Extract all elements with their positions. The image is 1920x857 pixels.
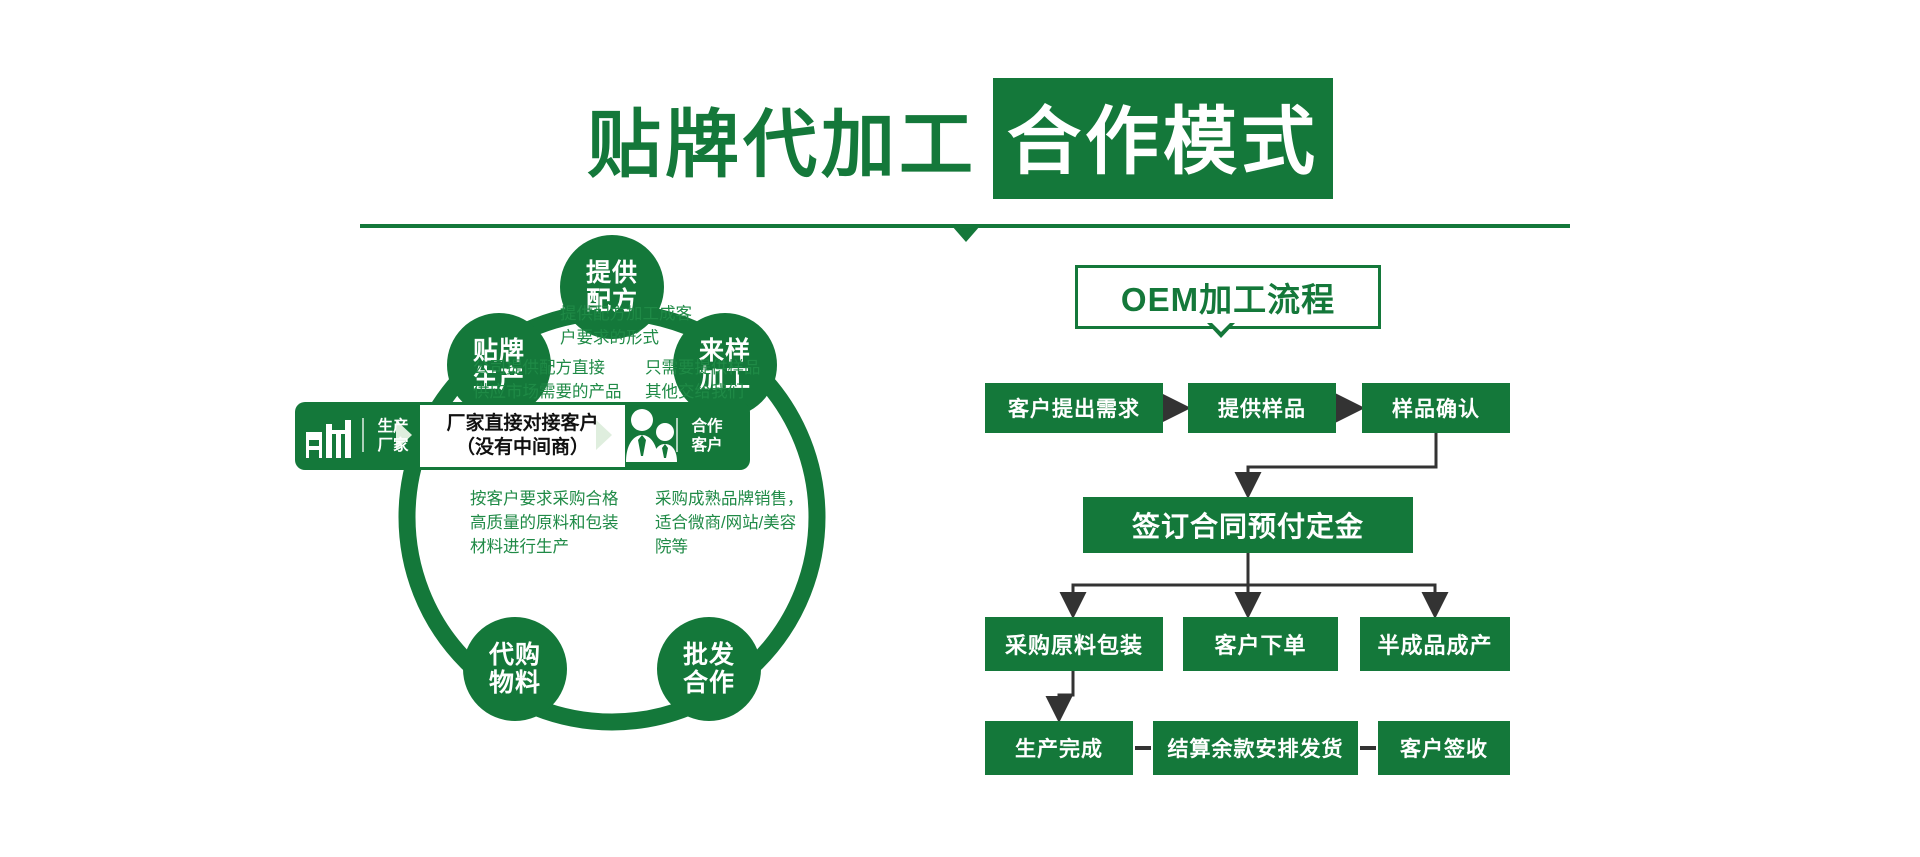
factory-icon bbox=[302, 406, 362, 466]
flowchart-heading: OEM加工流程 bbox=[1075, 265, 1381, 329]
oem-cooperation-infographic: 贴牌代加工合作模式 提供 配方 贴牌 生产 来样 加工 bbox=[0, 0, 1920, 857]
cycle-desc-bottom-left: 按客户要求采购合格 高质量的原料和包装 材料进行生产 bbox=[470, 488, 670, 560]
flow-box-sample-confirm[interactable]: 样品确认 bbox=[1362, 383, 1510, 433]
page-title-highlight: 合作模式 bbox=[993, 78, 1333, 199]
cycle-desc-left: 公司提供配方直接 供应市场需要的产品 bbox=[473, 357, 663, 405]
customers-icon bbox=[620, 404, 682, 466]
flow-box-customer-request[interactable]: 客户提出需求 bbox=[985, 383, 1163, 433]
cycle-node-material-purchase[interactable]: 代购 物料 bbox=[463, 617, 567, 721]
page-title: 贴牌代加工合作模式 bbox=[0, 78, 1920, 199]
direct-connection-line1: 厂家直接对接客户 bbox=[446, 412, 598, 436]
cycle-desc-right: 只需要提供样品 其他交给我们 bbox=[645, 357, 825, 405]
flow-box-semi-finished[interactable]: 半成品成产 bbox=[1360, 617, 1510, 671]
bar-label-customer: 合作 客户 bbox=[682, 418, 732, 455]
page-title-main: 贴牌代加工 bbox=[587, 103, 977, 186]
bar-divider-right bbox=[676, 418, 678, 452]
flow-box-settle-and-ship[interactable]: 结算余款安排发货 bbox=[1153, 721, 1358, 775]
cycle-node-line1: 代购 bbox=[489, 641, 541, 669]
heading-notch-inner-icon bbox=[1210, 321, 1232, 332]
cycle-node-line1: 批发 bbox=[683, 641, 735, 669]
cycle-desc-bottom-right: 采购成熟品牌销售， 适合微商/网站/美容 院等 bbox=[655, 488, 840, 560]
direct-connection-text: 厂家直接对接客户 （没有中间商） bbox=[420, 406, 625, 466]
cycle-node-line1: 提供 bbox=[586, 259, 638, 287]
bar-divider-left bbox=[362, 418, 364, 452]
cycle-node-line2: 合作 bbox=[683, 669, 735, 697]
flow-box-production-done[interactable]: 生产完成 bbox=[985, 721, 1133, 775]
cycle-node-wholesale-cooperation[interactable]: 批发 合作 bbox=[657, 617, 761, 721]
flow-box-customer-receipt[interactable]: 客户签收 bbox=[1378, 721, 1510, 775]
flow-box-sign-contract-deposit[interactable]: 签订合同预付定金 bbox=[1083, 497, 1413, 553]
direct-connection-line2: （没有中间商） bbox=[456, 436, 589, 460]
divider-notch-icon bbox=[952, 226, 980, 242]
flow-box-customer-order[interactable]: 客户下单 bbox=[1183, 617, 1338, 671]
oem-flowchart: OEM加工流程 客户提出需求 提供样品 样品确认 bbox=[985, 255, 1575, 785]
cycle-diagram: 提供 配方 贴牌 生产 来样 加工 代购 物料 批发 合作 bbox=[355, 255, 915, 785]
flow-box-provide-sample[interactable]: 提供样品 bbox=[1188, 383, 1336, 433]
flow-box-purchase-materials[interactable]: 采购原料包装 bbox=[985, 617, 1163, 671]
cycle-desc-top: 提供配方加工成客 户要求的形式 bbox=[560, 303, 750, 351]
bar-label-factory: 生产 厂家 bbox=[368, 418, 418, 455]
cycle-node-line2: 物料 bbox=[489, 669, 541, 697]
